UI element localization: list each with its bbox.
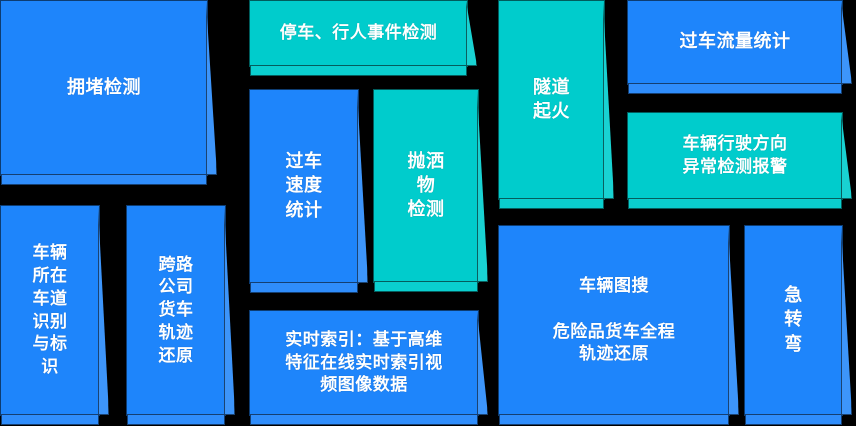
card-extrusion-right	[224, 206, 235, 415]
card-label: 急 转 弯	[782, 284, 805, 356]
card-extrusion-bottom	[127, 414, 225, 425]
cross-road-truck-trajectory-card[interactable]: 跨路 公司 货车 轨迹 还原	[126, 205, 226, 416]
card-label: 过车流量统计	[672, 30, 799, 54]
card-label: 车辆行驶方向 异常检测报警	[675, 133, 796, 179]
sharp-turn-card[interactable]: 急 转 弯	[744, 225, 843, 416]
card-extrusion-bottom	[628, 198, 842, 209]
card-extrusion-right	[841, 226, 852, 415]
card-extrusion-right	[98, 206, 109, 415]
congestion-detection-card[interactable]: 拥堵检测	[0, 0, 208, 176]
realtime-index-card[interactable]: 实时索引：基于高维 特征在线实时索引视 频图像数据	[249, 310, 479, 416]
card-extrusion-right	[603, 1, 614, 199]
parking-pedestrian-event-detection-card[interactable]: 停车、行人事件检测	[249, 0, 468, 67]
card-label: 车辆 所在 车道 识别 与标 识	[31, 242, 70, 379]
card-extrusion-bottom	[628, 83, 842, 94]
card-extrusion-right	[728, 226, 739, 415]
card-label: 跨路 公司 货车 轨迹 还原	[157, 254, 196, 368]
vehicle-image-search-card[interactable]: 车辆图搜 危险品货车全程 轨迹还原	[498, 225, 730, 416]
card-extrusion-bottom	[499, 198, 604, 209]
card-extrusion-bottom	[374, 281, 478, 292]
card-extrusion-bottom	[1, 414, 99, 425]
vehicle-speed-statistics-card[interactable]: 过车 速度 统计	[249, 89, 359, 284]
tunnel-fire-card[interactable]: 隧道 起火	[498, 0, 605, 200]
card-label: 过车 速度 统计	[278, 150, 331, 222]
vehicle-lane-recognition-card[interactable]: 车辆 所在 车道 识别 与标 识	[0, 205, 100, 416]
diagram-canvas: 拥堵检测停车、行人事件检测隧道 起火过车流量统计车辆行驶方向 异常检测报警过车 …	[0, 0, 856, 426]
traffic-flow-statistics-card[interactable]: 过车流量统计	[627, 0, 843, 85]
card-label: 拥堵检测	[59, 76, 149, 100]
card-label: 隧道 起火	[525, 76, 578, 124]
card-extrusion-right	[206, 1, 217, 175]
card-extrusion-right	[841, 1, 852, 84]
card-extrusion-bottom	[499, 414, 729, 425]
card-extrusion-right	[477, 311, 488, 415]
card-extrusion-right	[841, 113, 852, 199]
card-label: 车辆图搜 危险品货车全程 轨迹还原	[545, 275, 684, 366]
vehicle-direction-anomaly-alarm-card[interactable]: 车辆行驶方向 异常检测报警	[627, 112, 843, 200]
card-extrusion-bottom	[1, 174, 207, 185]
card-extrusion-right	[477, 90, 488, 282]
card-extrusion-right	[357, 90, 368, 283]
card-extrusion-right	[466, 1, 477, 66]
card-label: 停车、行人事件检测	[272, 22, 446, 45]
spill-object-detection-card[interactable]: 抛洒 物 检测	[373, 89, 479, 283]
card-extrusion-bottom	[250, 414, 478, 425]
card-label: 实时索引：基于高维 特征在线实时索引视 频图像数据	[277, 329, 451, 397]
card-label: 抛洒 物 检测	[400, 150, 453, 222]
card-extrusion-bottom	[745, 414, 842, 425]
card-extrusion-bottom	[250, 282, 358, 293]
card-extrusion-bottom	[250, 65, 467, 76]
